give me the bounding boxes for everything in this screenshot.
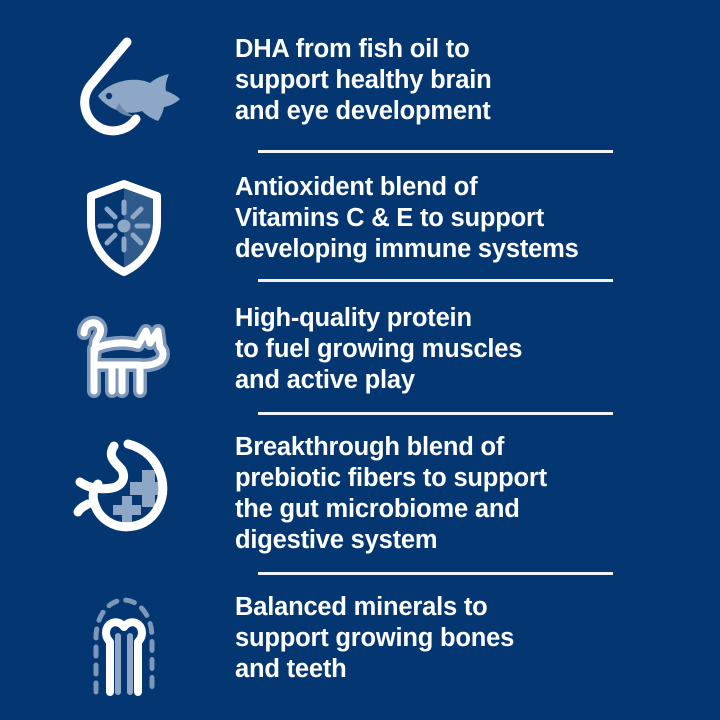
benefit-text: Breakthrough blend of prebiotic fibers t…: [235, 432, 630, 556]
stomach-plus-icon: [0, 432, 235, 544]
benefit-row: DHA from fish oil to support healthy bra…: [0, 34, 720, 146]
row-divider: [258, 572, 613, 575]
dog-icon: [0, 303, 235, 407]
benefit-text: DHA from fish oil to support healthy bra…: [235, 34, 630, 127]
benefit-row: High-quality protein to fuel growing mus…: [0, 303, 720, 407]
benefit-text-cell: High-quality protein to fuel growing mus…: [235, 303, 720, 396]
benefit-text: High-quality protein to fuel growing mus…: [235, 303, 630, 396]
benefit-text-cell: Balanced minerals to support growing bon…: [235, 592, 720, 685]
row-divider: [258, 150, 613, 153]
shield-burst-icon: [0, 172, 235, 284]
benefit-text-cell: Antioxident blend of Vitamins C & E to s…: [235, 172, 720, 265]
benefit-text: Balanced minerals to support growing bon…: [235, 592, 630, 685]
row-divider: [258, 412, 613, 415]
row-divider: [258, 279, 613, 282]
benefit-row: Breakthrough blend of prebiotic fibers t…: [0, 432, 720, 556]
fish-droplet-icon: [0, 34, 235, 146]
benefit-row: Balanced minerals to support growing bon…: [0, 592, 720, 698]
bone-icon: [0, 592, 235, 698]
benefits-panel: DHA from fish oil to support healthy bra…: [0, 0, 720, 720]
benefit-text: Antioxident blend of Vitamins C & E to s…: [235, 172, 630, 265]
benefit-text-cell: DHA from fish oil to support healthy bra…: [235, 34, 720, 127]
benefit-row: Antioxident blend of Vitamins C & E to s…: [0, 172, 720, 284]
benefit-text-cell: Breakthrough blend of prebiotic fibers t…: [235, 432, 720, 556]
